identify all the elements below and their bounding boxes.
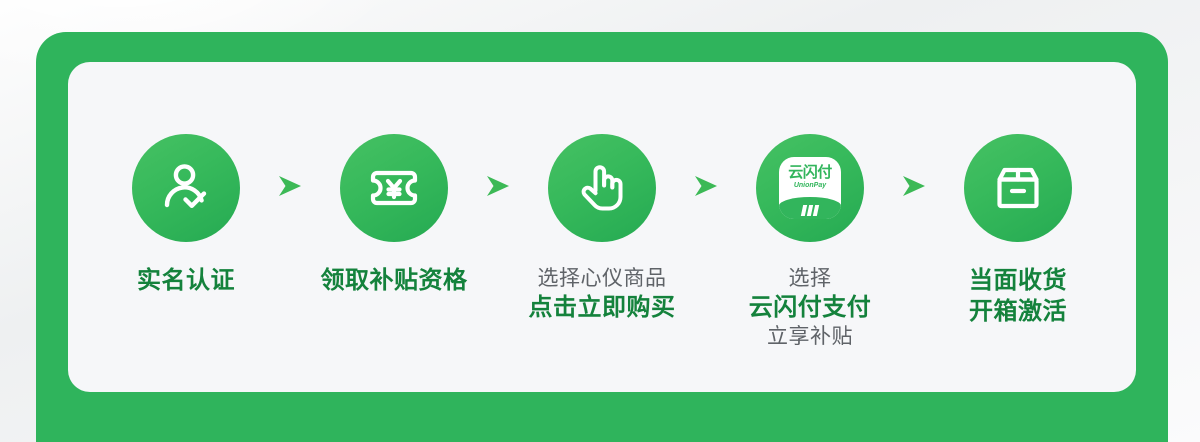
step-separator-1 — [264, 62, 316, 198]
unionpay-subword: UnionPay — [794, 182, 826, 189]
coupon-yen-icon — [363, 157, 425, 219]
package-box-icon — [988, 158, 1048, 218]
step-icon-circle-1 — [132, 134, 240, 242]
step-icon-circle-4: 云闪付 UnionPay — [756, 134, 864, 242]
step-label-line: 当面收货 — [969, 266, 1067, 297]
step-label-line: 选择心仪商品 — [529, 266, 676, 293]
step-icon-circle-3 — [548, 134, 656, 242]
chevron-right-arrow-icon — [692, 174, 720, 198]
step-separator-4 — [888, 62, 940, 198]
step-item-5[interactable]: 当面收货 开箱激活 — [940, 62, 1096, 327]
step-icon-circle-5 — [964, 134, 1072, 242]
step-item-2[interactable]: 领取补贴资格 — [316, 62, 472, 297]
step-label-line: 领取补贴资格 — [321, 266, 468, 297]
unionpay-wordmark: 云闪付 — [788, 165, 832, 180]
step-item-1[interactable]: 实名认证 — [108, 62, 264, 297]
step-icon-circle-2 — [340, 134, 448, 242]
step-label-4: 选择 云闪付支付 立享补贴 — [749, 266, 872, 350]
step-label-line: 选择 — [749, 266, 872, 293]
user-verified-icon — [156, 158, 216, 218]
unionpay-bar-icon — [813, 205, 819, 216]
step-label-5: 当面收货 开箱激活 — [969, 266, 1067, 327]
chevron-right-arrow-icon — [484, 174, 512, 198]
step-label-3: 选择心仪商品 点击立即购买 — [529, 266, 676, 324]
chevron-right-arrow-icon — [276, 174, 304, 198]
step-label-line: 云闪付支付 — [749, 293, 872, 324]
step-item-4[interactable]: 云闪付 UnionPay 选择 云闪付支付 立享补贴 — [732, 62, 888, 350]
step-label-2: 领取补贴资格 — [321, 266, 468, 297]
step-label-line: 实名认证 — [137, 266, 235, 297]
step-label-1: 实名认证 — [137, 266, 235, 297]
step-label-line: 立享补贴 — [749, 324, 872, 351]
step-item-3[interactable]: 选择心仪商品 点击立即购买 — [524, 62, 680, 324]
unionpay-app-icon: 云闪付 UnionPay — [779, 157, 841, 219]
step-label-line: 开箱激活 — [969, 297, 1067, 328]
unionpay-band — [779, 197, 841, 219]
step-flow-container: 实名认证 领取补贴资格 — [68, 62, 1136, 392]
chevron-right-arrow-icon — [900, 174, 928, 198]
step-separator-3 — [680, 62, 732, 198]
step-label-line: 点击立即购买 — [529, 293, 676, 324]
pointing-hand-icon — [571, 157, 633, 219]
step-separator-2 — [472, 62, 524, 198]
